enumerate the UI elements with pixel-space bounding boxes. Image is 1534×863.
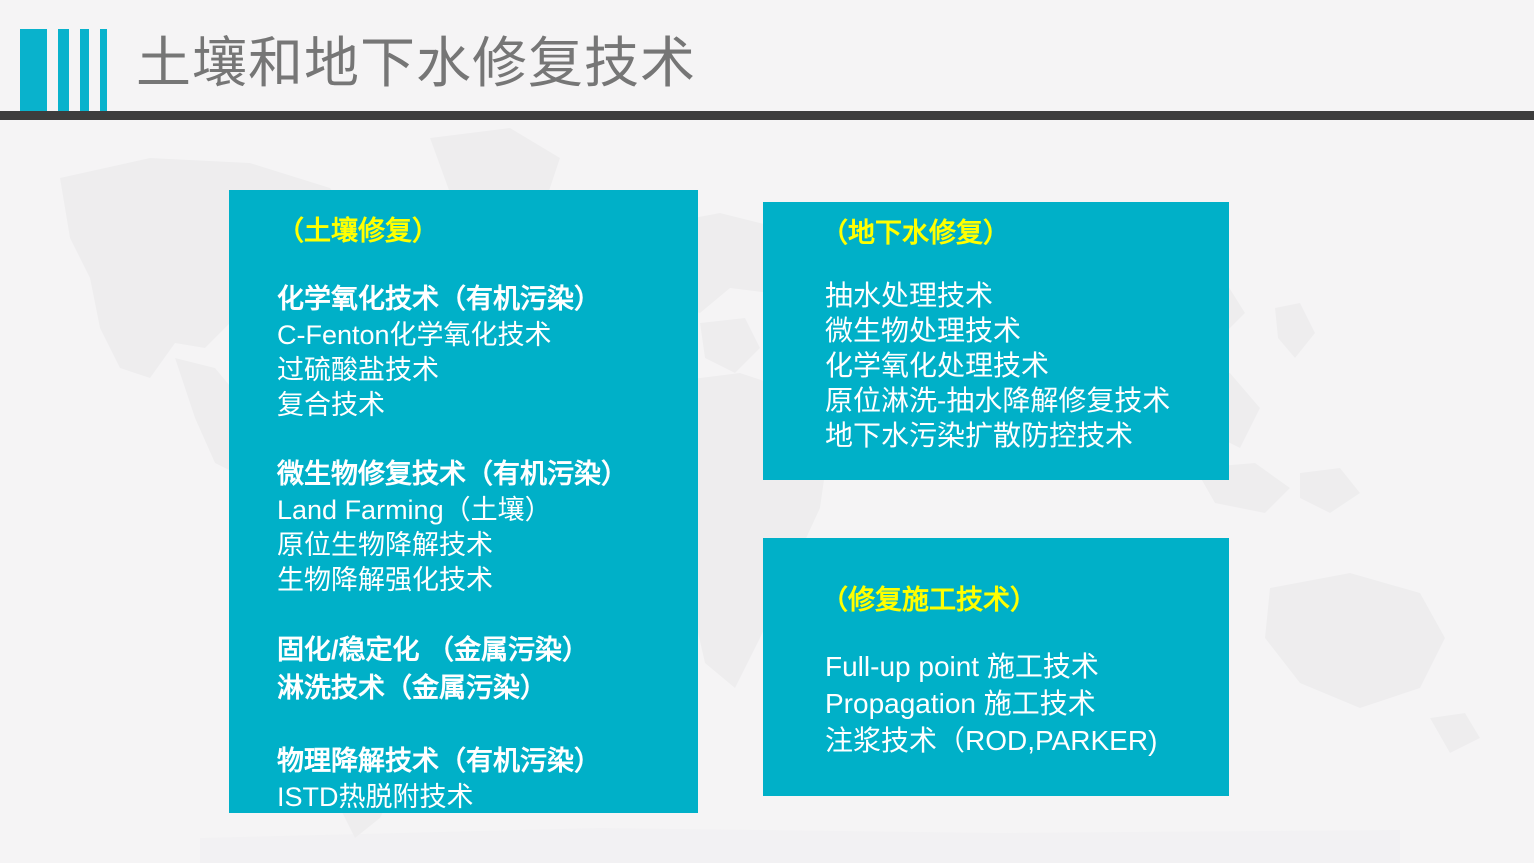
panel-groundwater-heading: （地下水修复） xyxy=(821,216,1229,250)
soil-group-title: 物理降解技术（有机污染） xyxy=(277,742,698,780)
soil-group-title: 固化/稳定化 （金属污染） xyxy=(277,631,698,669)
soil-group-item: 原位生物降解技术 xyxy=(277,528,698,563)
soil-group-title: 化学氧化技术（有机污染） xyxy=(277,280,698,318)
groundwater-item: 原位淋洗-抽水降解修复技术 xyxy=(825,383,1229,418)
soil-group-item: Land Farming（土壤） xyxy=(277,493,698,528)
accent-bar-3 xyxy=(80,29,89,111)
accent-bar-2 xyxy=(58,29,69,111)
slide-canvas: 土壤和地下水修复技术 （土壤修复） 化学氧化技术（有机污染） C-Fenton化… xyxy=(0,0,1534,863)
soil-group-physical-degradation: 物理降解技术（有机污染） ISTD热脱附技术 xyxy=(277,742,698,815)
panel-soil-remediation: （土壤修复） 化学氧化技术（有机污染） C-Fenton化学氧化技术 过硫酸盐技… xyxy=(229,190,698,813)
groundwater-item: 微生物处理技术 xyxy=(825,313,1229,348)
accent-bar-4 xyxy=(100,29,107,111)
header-divider xyxy=(0,111,1534,120)
construction-item: 注浆技术（ROD,PARKER) xyxy=(825,722,1229,759)
soil-group-item: C-Fenton化学氧化技术 xyxy=(277,318,698,353)
soil-group-item: 过硫酸盐技术 xyxy=(277,353,698,388)
slide-header: 土壤和地下水修复技术 xyxy=(0,0,1534,118)
soil-group-title-secondary: 淋洗技术（金属污染） xyxy=(277,669,698,707)
construction-item: Propagation 施工技术 xyxy=(825,685,1229,722)
panel-construction-heading: （修复施工技术） xyxy=(821,583,1229,617)
panel-groundwater-remediation: （地下水修复） 抽水处理技术 微生物处理技术 化学氧化处理技术 原位淋洗-抽水降… xyxy=(763,202,1229,480)
groundwater-item: 地下水污染扩散防控技术 xyxy=(825,418,1229,453)
soil-group-item: 生物降解强化技术 xyxy=(277,563,698,598)
soil-group-item: 复合技术 xyxy=(277,388,698,423)
groundwater-item: 抽水处理技术 xyxy=(825,278,1229,313)
soil-group-solidification-washing: 固化/稳定化 （金属污染） 淋洗技术（金属污染） xyxy=(277,631,698,707)
groundwater-item-list: 抽水处理技术 微生物处理技术 化学氧化处理技术 原位淋洗-抽水降解修复技术 地下… xyxy=(825,278,1229,453)
soil-group-title: 微生物修复技术（有机污染） xyxy=(277,455,698,493)
construction-item: Full-up point 施工技术 xyxy=(825,648,1229,685)
soil-group-item: ISTD热脱附技术 xyxy=(277,780,698,815)
soil-group-bioremediation: 微生物修复技术（有机污染） Land Farming（土壤） 原位生物降解技术 … xyxy=(277,455,698,598)
soil-group-chemical-oxidation: 化学氧化技术（有机污染） C-Fenton化学氧化技术 过硫酸盐技术 复合技术 xyxy=(277,280,698,423)
groundwater-item: 化学氧化处理技术 xyxy=(825,348,1229,383)
construction-item-list: Full-up point 施工技术 Propagation 施工技术 注浆技术… xyxy=(825,648,1229,759)
accent-bar-1 xyxy=(20,29,47,111)
panel-soil-heading: （土壤修复） xyxy=(277,214,698,248)
page-title: 土壤和地下水修复技术 xyxy=(136,26,696,100)
panel-construction-techniques: （修复施工技术） Full-up point 施工技术 Propagation … xyxy=(763,538,1229,796)
header-accent-bars xyxy=(20,29,107,111)
